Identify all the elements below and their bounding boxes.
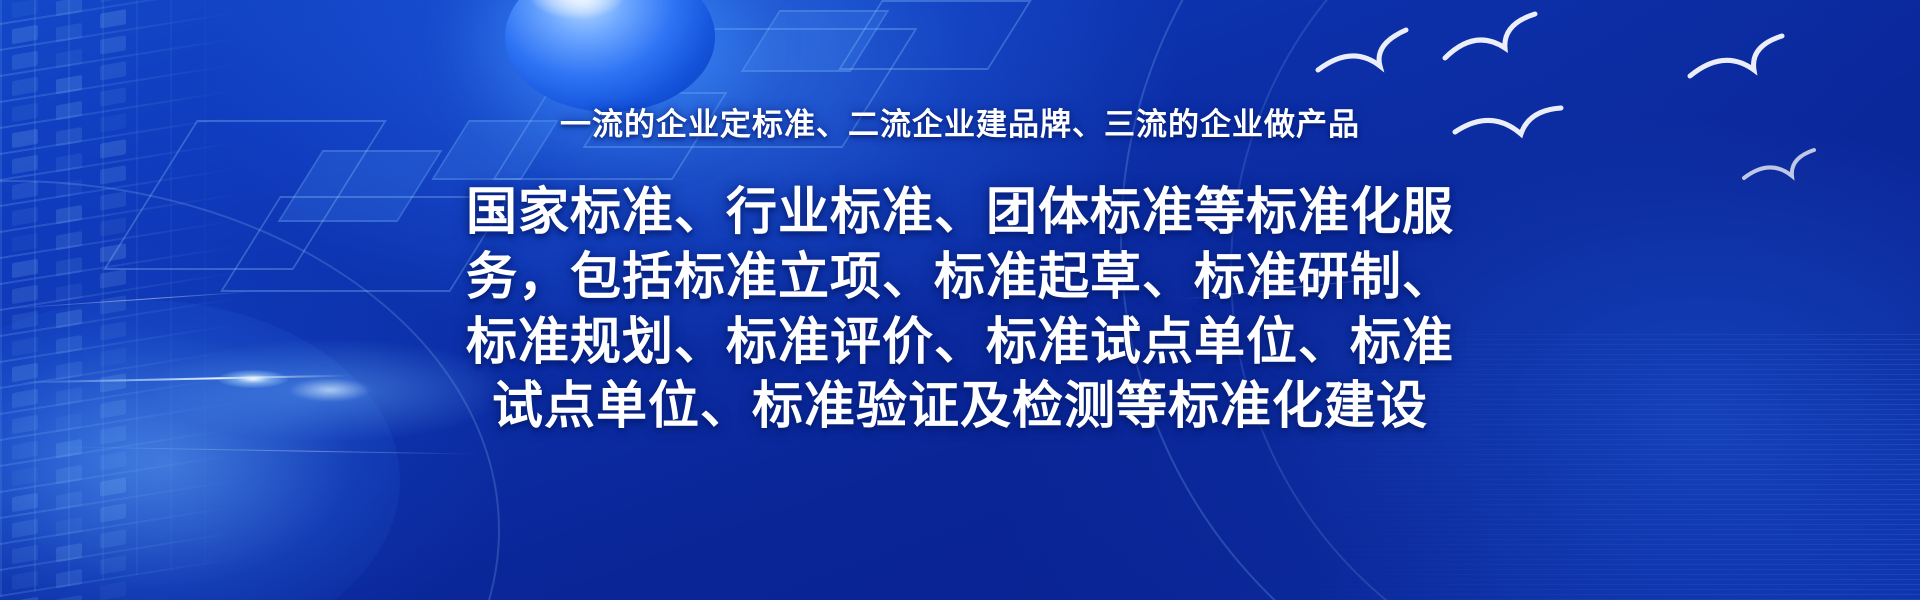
headline-line: 务，包括标准立项、标准起草、标准研制、 xyxy=(430,245,1490,310)
headline: 国家标准、行业标准、团体标准等标准化服 务，包括标准立项、标准起草、标准研制、 … xyxy=(430,180,1490,439)
promotional-banner: 一流的企业定标准、二流企业建品牌、三流的企业做产品 国家标准、行业标准、团体标准… xyxy=(0,0,1920,600)
headline-line: 标准规划、标准评价、标准试点单位、标准 xyxy=(430,310,1490,375)
tagline: 一流的企业定标准、二流企业建品牌、三流的企业做产品 xyxy=(560,108,1360,142)
headline-line: 国家标准、行业标准、团体标准等标准化服 xyxy=(430,180,1490,245)
banner-text-block: 一流的企业定标准、二流企业建品牌、三流的企业做产品 国家标准、行业标准、团体标准… xyxy=(0,0,1920,600)
headline-line: 试点单位、标准验证及检测等标准化建设 xyxy=(430,374,1490,439)
